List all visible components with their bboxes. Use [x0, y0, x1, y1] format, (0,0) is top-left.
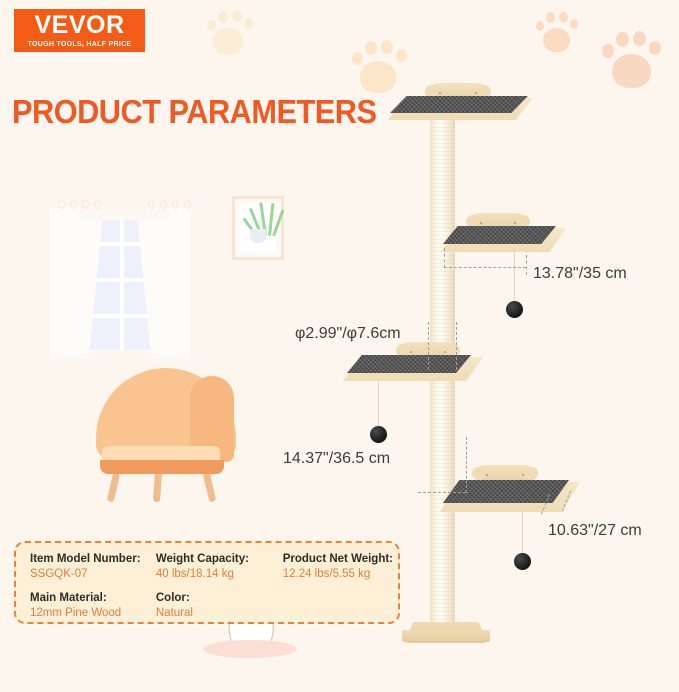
- platform-top-mat: [388, 96, 533, 114]
- art-mat: [240, 204, 276, 252]
- product-parameters-image: VEVOR TOUGH TOOLS, HALF PRICE PRODUCT PA…: [0, 0, 679, 692]
- spec-value: 40 lbs/18.14 kg: [156, 567, 283, 582]
- toy-string: [514, 251, 515, 303]
- spec-label: Item Model Number:: [30, 552, 156, 567]
- toy-string: [378, 380, 379, 428]
- page-title: PRODUCT PARAMETERS: [12, 93, 376, 131]
- chair-leg: [153, 472, 162, 502]
- window-sill: [46, 358, 202, 363]
- armchair-illustration: [88, 368, 238, 498]
- chair-skirt: [100, 460, 224, 474]
- dimension-label-post-diameter: φ2.99"/φ7.6cm: [295, 325, 401, 343]
- spec-label: Main Material:: [30, 591, 156, 606]
- platform-third-mat: [347, 355, 479, 374]
- window-illustration: [42, 192, 202, 352]
- dimension-label-shelf-depth-lower: 10.63"/27 cm: [548, 522, 642, 540]
- chair-leg: [203, 472, 217, 503]
- chair-leg: [107, 472, 121, 503]
- dimension-line: [444, 267, 526, 268]
- dimension-line: [428, 322, 429, 370]
- dimension-line: [466, 437, 467, 493]
- plant-pot: [250, 229, 266, 243]
- brand-name: VEVOR: [34, 13, 124, 38]
- spec-label: Product Net Weight:: [283, 552, 398, 567]
- dimension-line: [526, 255, 527, 275]
- dimension-label-shelf-depth-top: 13.78"/35 cm: [533, 265, 627, 283]
- spec-product-net-weight: Product Net Weight: 12.24 lbs/5.55 kg: [283, 552, 398, 582]
- dimension-line: [418, 492, 466, 493]
- pom-pom-toy: [506, 301, 523, 318]
- spec-item-model-number: Item Model Number: SSGQK-07: [30, 552, 156, 582]
- paw-print-icon: [535, 10, 581, 56]
- spec-color: Color: Natural: [156, 591, 283, 621]
- curtain-valance: [80, 206, 170, 220]
- toy-string: [522, 511, 523, 555]
- cat-shadow: [203, 640, 297, 658]
- wall-art-frame: [232, 196, 284, 260]
- paw-print-icon: [205, 8, 257, 60]
- dimension-label-shelf-width-mid: 14.37"/36.5 cm: [283, 450, 390, 468]
- spec-value: Natural: [156, 606, 283, 621]
- dimension-line: [456, 322, 457, 370]
- spec-weight-capacity: Weight Capacity: 40 lbs/18.14 kg: [156, 552, 283, 582]
- pom-pom-toy: [370, 426, 387, 443]
- spec-row: Item Model Number: SSGQK-07 Weight Capac…: [30, 552, 398, 582]
- spec-value: SSGQK-07: [30, 567, 156, 582]
- dimension-line: [444, 248, 445, 268]
- vevor-logo: VEVOR TOUGH TOOLS, HALF PRICE: [14, 9, 145, 52]
- spec-label: Weight Capacity:: [156, 552, 283, 567]
- spec-empty: [283, 591, 398, 621]
- pom-pom-toy: [514, 553, 531, 570]
- spec-value: 12mm Pine Wood: [30, 606, 156, 621]
- spec-row: Main Material: 12mm Pine Wood Color: Nat…: [30, 591, 398, 621]
- spec-label: Color:: [156, 591, 283, 606]
- specifications-box: Item Model Number: SSGQK-07 Weight Capac…: [14, 541, 400, 624]
- brand-tagline: TOUGH TOOLS, HALF PRICE: [28, 41, 132, 48]
- spec-value: 12.24 lbs/5.55 kg: [283, 567, 398, 582]
- platform-second-mat: [443, 226, 562, 245]
- spec-main-material: Main Material: 12mm Pine Wood: [30, 591, 156, 621]
- floor-base-plate-front: [402, 630, 490, 642]
